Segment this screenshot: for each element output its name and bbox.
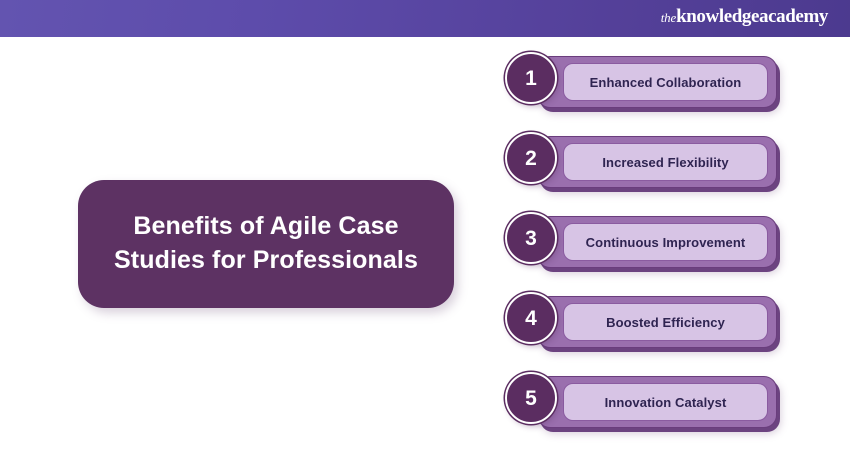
brand-name-text: knowledgeacademy xyxy=(676,6,828,27)
list-item: Continuous Improvement 3 xyxy=(505,212,795,274)
list-item: Increased Flexibility 2 xyxy=(505,132,795,194)
benefit-frame: Continuous Improvement xyxy=(537,216,777,268)
benefit-number: 4 xyxy=(525,308,537,329)
benefit-frame: Increased Flexibility xyxy=(537,136,777,188)
benefit-label: Continuous Improvement xyxy=(586,235,746,250)
benefits-list: Enhanced Collaboration 1 Increased Flexi… xyxy=(505,52,795,434)
header-band: theknowledgeacademy xyxy=(0,0,850,37)
benefit-label: Enhanced Collaboration xyxy=(590,75,742,90)
list-item: Enhanced Collaboration 1 xyxy=(505,52,795,114)
benefit-pill: Continuous Improvement xyxy=(563,223,768,261)
benefit-pill: Enhanced Collaboration xyxy=(563,63,768,101)
benefit-number: 3 xyxy=(525,228,537,249)
benefit-number: 1 xyxy=(525,68,537,89)
benefit-pill: Innovation Catalyst xyxy=(563,383,768,421)
benefit-label: Innovation Catalyst xyxy=(605,395,727,410)
benefit-pill: Increased Flexibility xyxy=(563,143,768,181)
benefit-number-badge: 5 xyxy=(505,372,557,424)
benefit-label: Increased Flexibility xyxy=(602,155,728,170)
brand-logo: theknowledgeacademy xyxy=(661,7,828,26)
benefit-number-badge: 1 xyxy=(505,52,557,104)
benefit-number: 5 xyxy=(525,388,537,409)
benefit-number-badge: 4 xyxy=(505,292,557,344)
list-item: Innovation Catalyst 5 xyxy=(505,372,795,434)
benefit-number-badge: 2 xyxy=(505,132,557,184)
list-item: Boosted Efficiency 4 xyxy=(505,292,795,354)
brand-prefix-text: the xyxy=(661,10,676,25)
benefit-frame: Enhanced Collaboration xyxy=(537,56,777,108)
benefit-label: Boosted Efficiency xyxy=(606,315,725,330)
benefit-number: 2 xyxy=(525,148,537,169)
benefit-pill: Boosted Efficiency xyxy=(563,303,768,341)
page-title: Benefits of Agile Case Studies for Profe… xyxy=(78,210,454,278)
benefit-number-badge: 3 xyxy=(505,212,557,264)
benefit-frame: Boosted Efficiency xyxy=(537,296,777,348)
title-card: Benefits of Agile Case Studies for Profe… xyxy=(78,180,454,308)
benefit-frame: Innovation Catalyst xyxy=(537,376,777,428)
